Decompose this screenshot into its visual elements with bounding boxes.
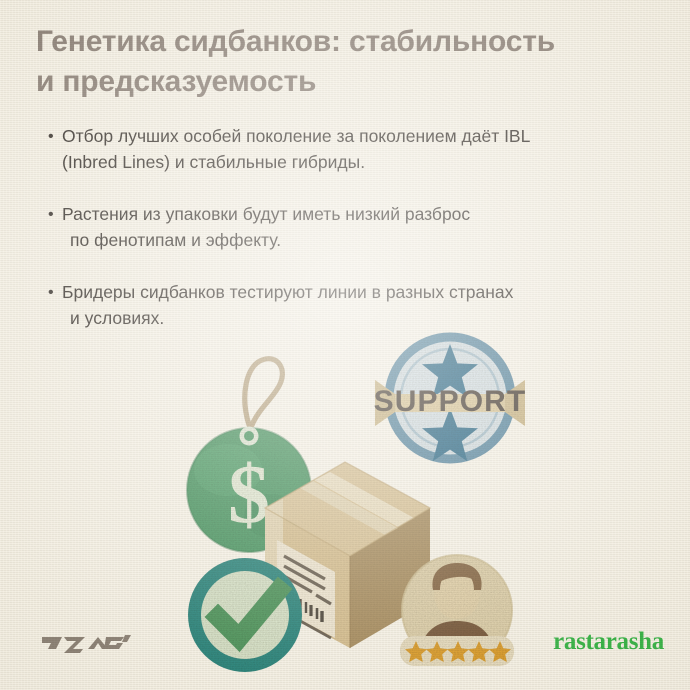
tag-string (245, 359, 283, 425)
page-title-line-1: Генетика сидбанков: стабильность (36, 22, 658, 62)
avatar-rating-badge-icon (400, 555, 514, 666)
page-title: Генетика сидбанков: стабильность и предс… (36, 22, 658, 102)
list-item-line-2: (Inbred Lines) и стабильные гибриды. (62, 150, 648, 176)
dzagi-logo[interactable] (40, 630, 132, 656)
list-item: • Растения из упаковки будут иметь низки… (48, 202, 648, 253)
list-item-line-1: Растения из упаковки будут иметь низкий … (62, 204, 470, 224)
list-item-text: Отбор лучших особей поколение за поколен… (62, 124, 648, 175)
dollar-symbol: $ (228, 448, 270, 541)
list-item-text: Растения из упаковки будут иметь низкий … (62, 202, 648, 253)
bullet-list: • Отбор лучших особей поколение за покол… (48, 124, 648, 358)
verified-check-badge-icon (188, 558, 302, 672)
bullet-marker-icon: • (48, 203, 62, 226)
dzagi-logo-mark (40, 630, 132, 656)
list-item-line-1: Бридеры сидбанков тестируют линии в разн… (62, 282, 513, 302)
list-item: • Бридеры сидбанков тестируют линии в ра… (48, 280, 648, 331)
bullet-marker-icon: • (48, 125, 62, 148)
list-item-line-2: и условиях. (62, 306, 648, 332)
list-item-line-1: Отбор лучших особей поколение за поколен… (62, 126, 530, 146)
poster-canvas: Генетика сидбанков: стабильность и предс… (0, 0, 690, 690)
support-ribbon-label: SUPPORT (374, 385, 527, 418)
list-item-line-2: по фенотипам и эффекту. (62, 228, 648, 254)
list-item: • Отбор лучших особей поколение за покол… (48, 124, 648, 175)
page-title-line-2: и предсказуемость (36, 62, 658, 102)
bullet-marker-icon: • (48, 281, 62, 304)
list-item-text: Бридеры сидбанков тестируют линии в разн… (62, 280, 648, 331)
rastarasha-logo[interactable]: rastarasha (553, 628, 664, 656)
